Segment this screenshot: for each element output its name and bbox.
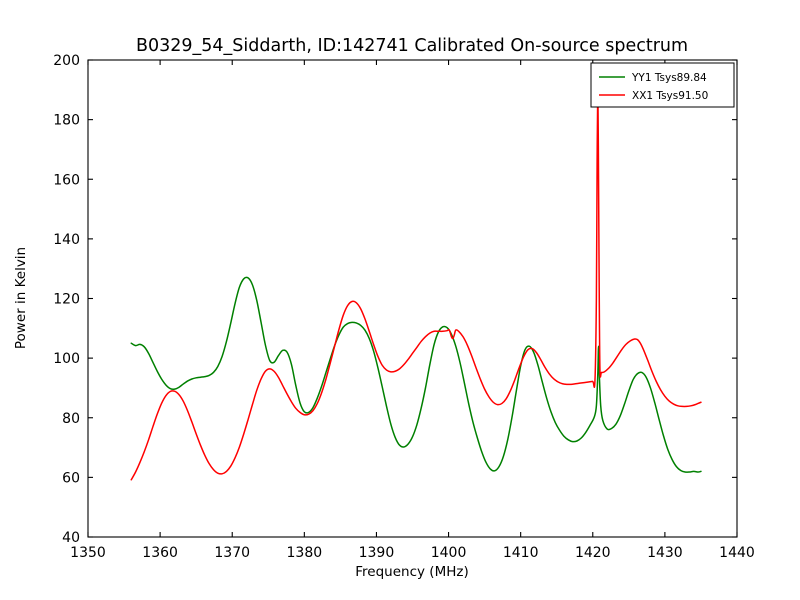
x-tick-label: 1410 xyxy=(503,545,539,561)
x-tick-label: 1370 xyxy=(214,545,250,561)
y-tick-label: 40 xyxy=(62,530,80,546)
spectrum-plot: B0329_54_Siddarth, ID:142741 Calibrated … xyxy=(0,0,800,600)
axes-background xyxy=(88,60,737,537)
y-tick-label: 200 xyxy=(53,53,80,69)
x-tick-label: 1440 xyxy=(719,545,755,561)
y-tick-label: 60 xyxy=(62,470,80,486)
y-tick-label: 100 xyxy=(53,351,80,367)
y-axis-label: Power in Kelvin xyxy=(13,247,29,349)
x-tick-label: 1430 xyxy=(647,545,683,561)
x-tick-label: 1390 xyxy=(359,545,395,561)
y-tick-label: 160 xyxy=(53,172,80,188)
spectrum-figure: B0329_54_Siddarth, ID:142741 Calibrated … xyxy=(0,0,800,600)
y-tick-label: 80 xyxy=(62,411,80,427)
legend-label-yy1: YY1 Tsys89.84 xyxy=(631,72,707,84)
x-axis-label: Frequency (MHz) xyxy=(355,564,468,580)
x-tick-label: 1350 xyxy=(70,545,106,561)
y-tick-label: 180 xyxy=(53,113,80,129)
x-tick-label: 1400 xyxy=(431,545,467,561)
x-tick-label: 1420 xyxy=(575,545,611,561)
legend: YY1 Tsys89.84XX1 Tsys91.50 xyxy=(591,63,734,107)
chart-title: B0329_54_Siddarth, ID:142741 Calibrated … xyxy=(136,36,688,56)
legend-label-xx1: XX1 Tsys91.50 xyxy=(632,90,708,102)
x-tick-label: 1360 xyxy=(142,545,178,561)
x-tick-label: 1380 xyxy=(287,545,323,561)
y-tick-label: 140 xyxy=(53,232,80,248)
y-tick-label: 120 xyxy=(53,292,80,308)
